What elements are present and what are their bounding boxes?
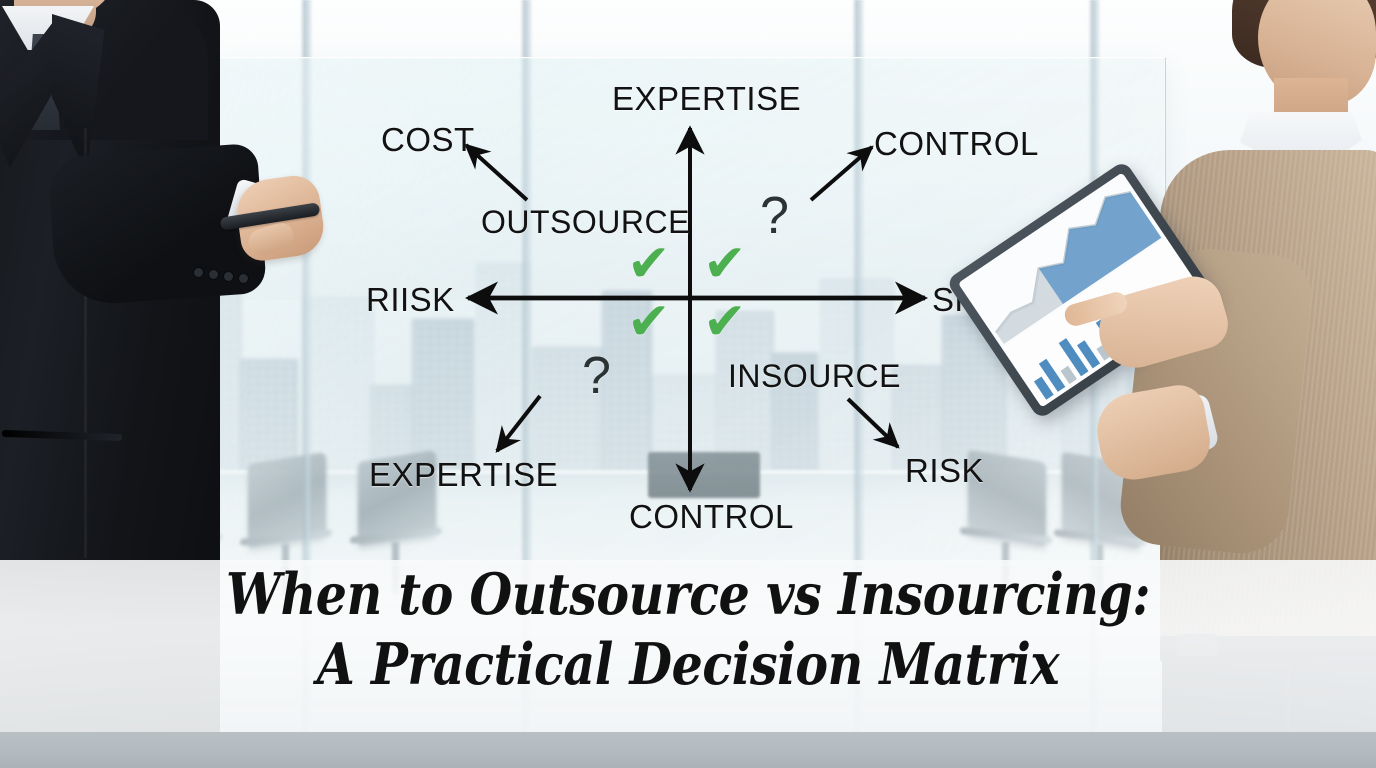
bottom-strip: [0, 732, 1376, 768]
title-line-2: A Practical Decision Matrix: [96, 636, 1279, 694]
header-image: EXPERTISE CONTROL RIISK SPEED OUTSOURCE …: [0, 0, 1376, 768]
page-title: When to Outsource vs Insourcing: A Pract…: [0, 566, 1376, 694]
callout-control: CONTROL: [874, 125, 1039, 163]
checkmark-lower-right: ✔: [703, 296, 747, 348]
axis-label-top: EXPERTISE: [612, 80, 801, 118]
quadrant-label-insource: INSOURCE: [728, 358, 901, 395]
checkmark-lower-left: ✔: [627, 296, 671, 348]
callout-cost: COST: [381, 121, 475, 159]
callout-expertise: EXPERTISE: [369, 456, 558, 494]
checkmark-upper-left: ✔: [627, 238, 671, 290]
question-mark-upper-right: ?: [760, 186, 789, 246]
axis-label-left: RIISK: [366, 281, 455, 319]
checkmark-upper-right: ✔: [703, 238, 747, 290]
question-mark-lower-left: ?: [582, 346, 611, 406]
axis-label-bottom: CONTROL: [629, 498, 794, 536]
callout-risk: RISK: [905, 452, 984, 490]
title-line-1: When to Outsource vs Insourcing:: [96, 566, 1279, 624]
